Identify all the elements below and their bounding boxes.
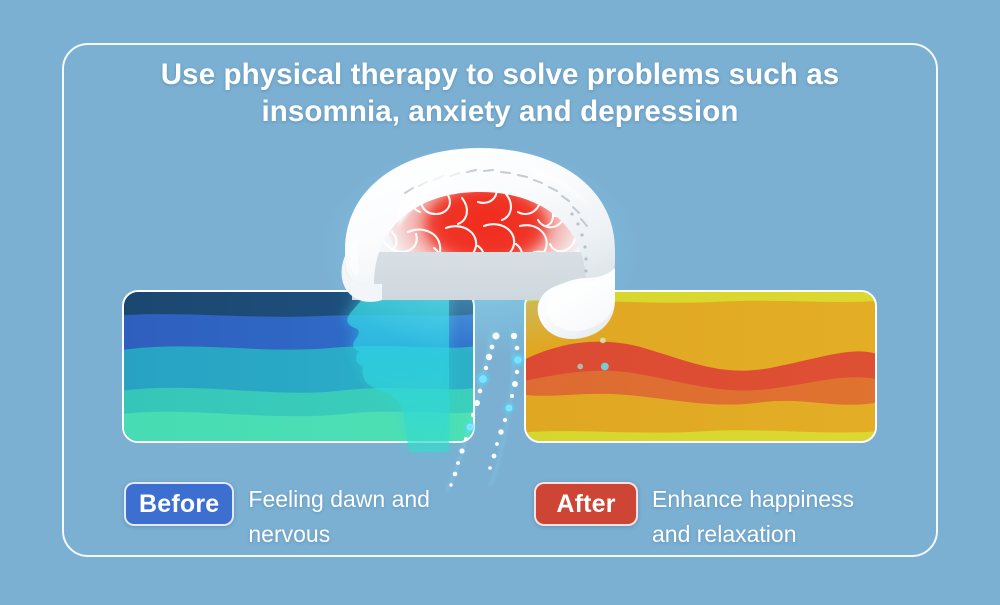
after-caption-row: After Enhance happiness and relaxation: [534, 482, 896, 552]
shell-highlight: [398, 162, 482, 228]
shell-highlight: [520, 163, 594, 212]
helmet-vent-dots: [570, 212, 587, 272]
after-brainwave-panel: [524, 290, 877, 443]
page-title: Use physical therapy to solve problems s…: [120, 56, 880, 130]
panel-dot: [577, 364, 583, 370]
helmet-vent-slots: [405, 170, 587, 226]
shell-highlight: [349, 238, 358, 276]
status-badge-before: Before: [124, 482, 234, 526]
before-brainwave-panel: [122, 290, 475, 443]
before-brainwave-graphic: [122, 290, 475, 443]
after-brainwave-graphic: [524, 290, 877, 443]
promotional-banner: Use physical therapy to solve problems s…: [0, 0, 1000, 605]
before-caption-text: Feeling dawn and nervous: [248, 482, 480, 552]
before-caption-row: Before Feeling dawn and nervous: [124, 482, 480, 552]
status-badge-after: After: [534, 482, 638, 526]
after-caption-text: Enhance happiness and relaxation: [652, 482, 896, 552]
panel-dot: [601, 363, 609, 371]
panel-dot: [600, 337, 606, 343]
